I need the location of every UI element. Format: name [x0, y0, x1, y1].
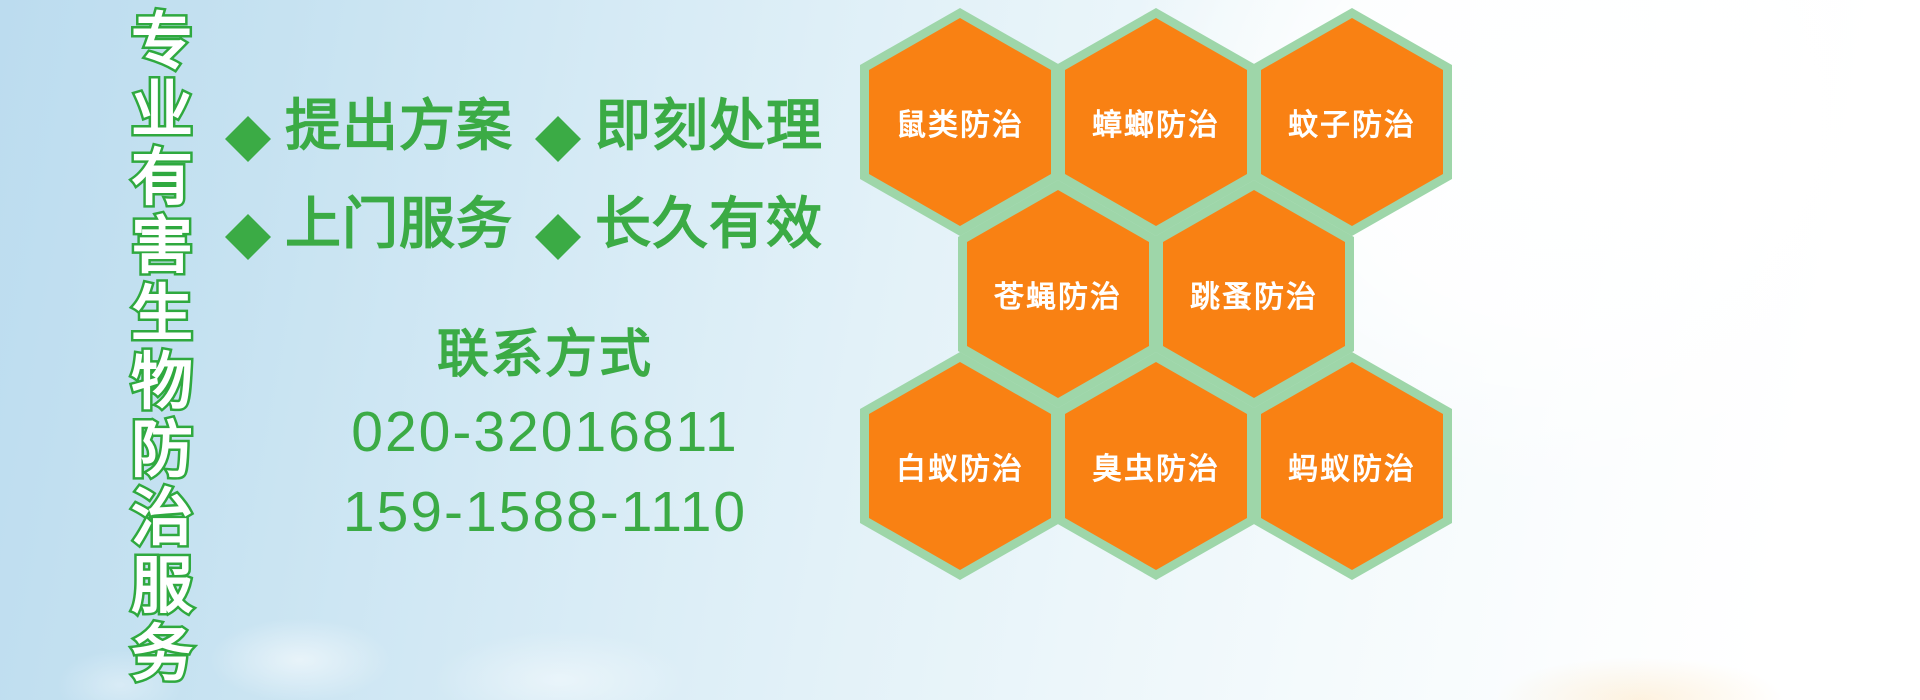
vertical-headline-char: 害	[131, 212, 193, 280]
vertical-headline-char: 治	[131, 484, 193, 552]
hex-label: 蟑螂防治	[1092, 100, 1220, 144]
pest-control-banner: 专 业 有 害 生 物 防 治 服 务 提出方案 即刻处理 上门服务	[0, 0, 1920, 700]
diamond-bullet-icon	[225, 191, 271, 237]
hex-label: 蚊子防治	[1288, 100, 1416, 144]
vertical-headline: 专 业 有 害 生 物 防 治 服 务	[108, 8, 216, 568]
vertical-headline-char: 防	[131, 416, 193, 484]
feature-item-long-lasting: 长久有效	[535, 195, 823, 255]
vertical-headline-char: 业	[131, 76, 193, 144]
contact-phone-mobile[interactable]: 159-1588-1110	[225, 472, 865, 552]
feature-label: 提出方案	[285, 97, 513, 157]
vertical-headline-char: 有	[131, 144, 193, 212]
diamond-bullet-icon	[225, 93, 271, 139]
contact-phone-landline[interactable]: 020-32016811	[225, 392, 865, 472]
feature-list: 提出方案 即刻处理 上门服务 长久有效	[225, 78, 865, 274]
feature-label: 长久有效	[595, 195, 823, 255]
hex-label: 鼠类防治	[896, 100, 1024, 144]
diamond-bullet-icon	[535, 93, 581, 139]
feature-row: 提出方案 即刻处理	[225, 78, 865, 176]
contact-block: 联系方式 020-32016811 159-1588-1110	[225, 318, 865, 552]
feature-item-onsite-service: 上门服务	[225, 195, 513, 255]
vertical-headline-char: 务	[131, 620, 193, 688]
feature-label: 上门服务	[285, 195, 513, 255]
feature-label: 即刻处理	[595, 97, 823, 157]
hex-label: 蚂蚁防治	[1288, 444, 1416, 488]
feature-item-immediate-handling: 即刻处理	[535, 97, 823, 157]
hex-label: 臭虫防治	[1092, 444, 1220, 488]
hex-label: 白蚁防治	[896, 444, 1024, 488]
vertical-headline-char: 专	[131, 8, 193, 76]
hex-label: 苍蝇防治	[994, 272, 1122, 316]
feature-item-propose-plan: 提出方案	[225, 97, 513, 157]
hex-label: 跳蚤防治	[1190, 272, 1318, 316]
diamond-bullet-icon	[535, 191, 581, 237]
service-honeycomb: 鼠类防治 蟑螂防治 蚊子防治 苍蝇防治 跳蚤防治 白蚁防治 臭虫防治 蚂蚁防治	[860, 0, 1860, 700]
vertical-headline-char: 服	[131, 552, 193, 620]
feature-row: 上门服务 长久有效	[225, 176, 865, 274]
vertical-headline-char: 物	[131, 348, 193, 416]
contact-heading: 联系方式	[225, 318, 865, 392]
vertical-headline-char: 生	[131, 280, 193, 348]
